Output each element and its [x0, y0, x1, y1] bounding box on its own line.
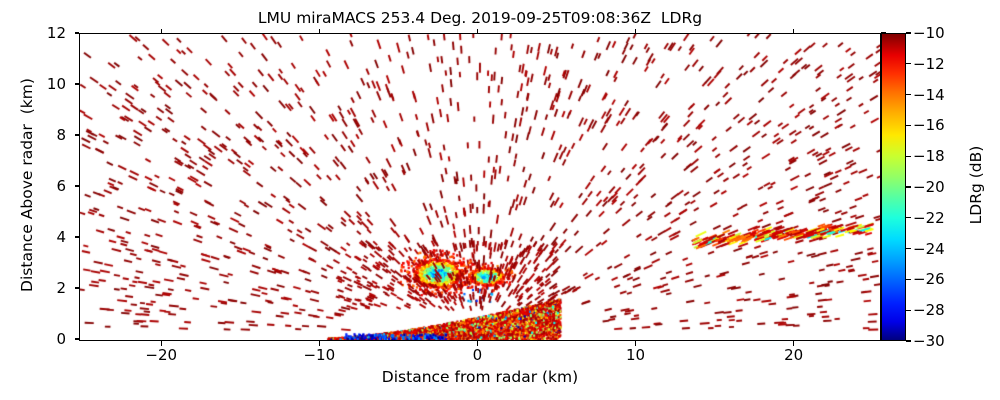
- y-tick-mark: [75, 32, 80, 33]
- plot-area: [79, 33, 881, 341]
- y-tick-mark: [75, 338, 80, 339]
- y-axis-title: Distance Above radar (km): [18, 31, 36, 339]
- colorbar-tick-label: −10: [913, 24, 945, 42]
- y-tick-mark: [75, 236, 80, 237]
- colorbar-tick-mark: [906, 217, 911, 218]
- x-tick-mark: [319, 29, 320, 34]
- colorbar-tick-mark: [906, 94, 911, 95]
- colorbar-tick-mark: [906, 63, 911, 64]
- x-tick-label: 20: [754, 346, 834, 364]
- x-tick-mark: [793, 341, 794, 346]
- colorbar-tick-mark: [906, 186, 911, 187]
- colorbar: [881, 33, 906, 341]
- x-tick-mark: [477, 29, 478, 34]
- colorbar-tick-mark: [906, 156, 911, 157]
- y-tick-mark: [75, 287, 80, 288]
- x-tick-label: −20: [121, 346, 201, 364]
- colorbar-tick-label: −24: [913, 240, 945, 258]
- colorbar-tick-label: −12: [913, 55, 945, 73]
- y-tick-mark: [75, 185, 80, 186]
- colorbar-title: LDRg (dB): [967, 31, 985, 339]
- y-tick-mark: [75, 134, 80, 135]
- colorbar-tick-label: −20: [913, 178, 945, 196]
- x-tick-label: 10: [596, 346, 676, 364]
- scatter-canvas: [80, 34, 880, 340]
- colorbar-tick-mark: [906, 248, 911, 249]
- x-tick-mark: [793, 29, 794, 34]
- x-tick-mark: [635, 29, 636, 34]
- x-tick-label: 0: [437, 346, 517, 364]
- radar-ldrg-figure: LMU miraMACS 253.4 Deg. 2019-09-25T09:08…: [0, 0, 1000, 400]
- x-axis-title: Distance from radar (km): [79, 368, 881, 386]
- colorbar-tick-label: −30: [913, 332, 945, 350]
- colorbar-tick-label: −28: [913, 301, 945, 319]
- x-tick-label: −10: [279, 346, 359, 364]
- x-tick-mark: [319, 341, 320, 346]
- colorbar-tick-label: −14: [913, 86, 945, 104]
- page-title: LMU miraMACS 253.4 Deg. 2019-09-25T09:08…: [0, 9, 960, 27]
- x-tick-mark: [635, 341, 636, 346]
- colorbar-tick-label: −18: [913, 147, 945, 165]
- colorbar-tick-label: −16: [913, 116, 945, 134]
- colorbar-tick-mark: [906, 32, 911, 33]
- colorbar-tick-mark: [906, 310, 911, 311]
- colorbar-tick-mark: [906, 125, 911, 126]
- y-tick-mark: [75, 83, 80, 84]
- colorbar-tick-label: −26: [913, 270, 945, 288]
- x-tick-mark: [477, 341, 478, 346]
- x-tick-mark: [161, 341, 162, 346]
- colorbar-tick-mark: [906, 340, 911, 341]
- x-tick-mark: [161, 29, 162, 34]
- colorbar-tick-label: −22: [913, 209, 945, 227]
- colorbar-tick-mark: [906, 279, 911, 280]
